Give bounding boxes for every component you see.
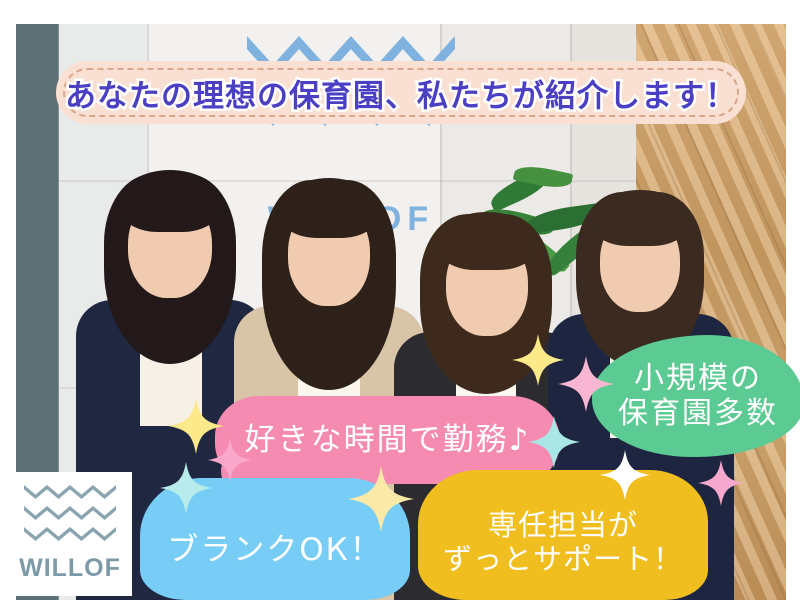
zigzag-chevron-icon: [24, 485, 116, 499]
zigzag-chevron-icon: [24, 527, 116, 541]
callout-line: ずっとサポート！: [443, 542, 683, 576]
sparkle-mint-mid-icon: [528, 416, 580, 468]
sparkle-pink-right-icon: [698, 460, 744, 506]
callout-line: 小規模の: [618, 361, 778, 396]
sparkle-yellow-mid-icon: [512, 334, 564, 386]
sparkle-cream-center-icon: [348, 466, 414, 532]
callout-line: 保育園多数: [618, 396, 778, 431]
banner-headline: あなたの理想の保育園、私たちが紹介します！: [56, 70, 746, 115]
zigzag-chevron-icon: [24, 506, 116, 520]
sparkle-pink-mid-icon: [558, 356, 614, 412]
header-banner: あなたの理想の保育園、私たちが紹介します！: [56, 61, 746, 124]
sparkle-pink-left-icon: [208, 438, 252, 482]
callout-line: ブランクОК！: [167, 532, 382, 569]
sparkle-white-yellow-icon: [600, 450, 650, 500]
sparkle-mint-blue-icon: [160, 462, 212, 514]
callout-line: 専任担当が: [443, 508, 683, 542]
ad-banner: WILLOF: [0, 0, 800, 600]
willof-wordmark: WILLOF: [19, 554, 121, 583]
willof-logo-badge: WILLOF: [8, 472, 132, 596]
callout-dedicated-support: 専任担当が ずっとサポート！: [418, 470, 708, 600]
callout-line: 好きな時間で勤務♪: [245, 422, 531, 459]
callout-small-nursery: 小規模の 保育園多数: [592, 335, 800, 457]
